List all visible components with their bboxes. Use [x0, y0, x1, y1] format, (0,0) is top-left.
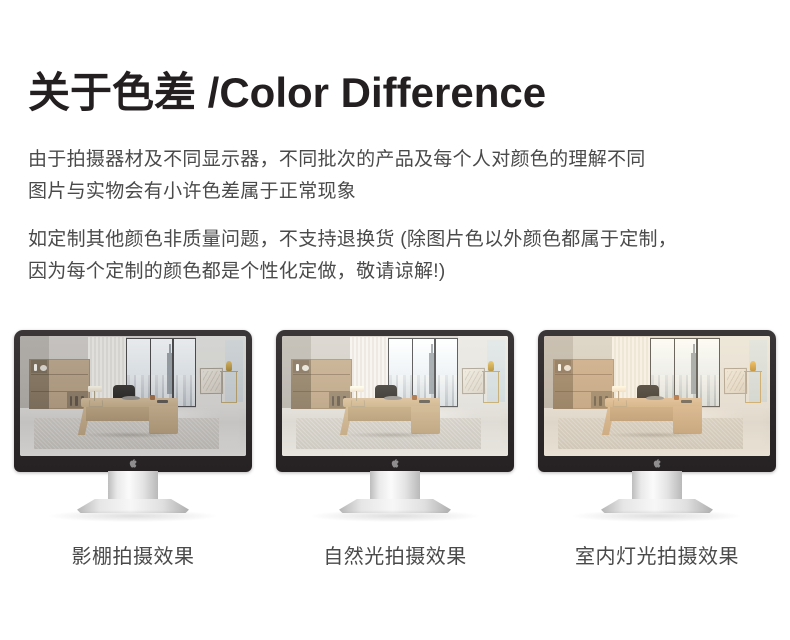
office-scene: [544, 336, 770, 456]
desk-pad: [681, 400, 692, 402]
apple-logo-icon: [653, 459, 662, 469]
floor-lamp-shade: [88, 386, 103, 391]
monitor-stand-neck: [108, 471, 158, 500]
office-scene: [282, 336, 508, 456]
desk-shadow: [607, 432, 702, 438]
monitor-bezel: [276, 330, 514, 472]
paragraph-line: 图片与实物会有小许色差属于正常现象: [28, 176, 768, 208]
caption-natural-light: 自然光拍摄效果: [276, 545, 514, 569]
paragraph-line: 由于拍摄器材及不同显示器，不同批次的产品及每个人对颜色的理解不同: [28, 144, 768, 176]
desk-return-cabinet: [673, 406, 702, 435]
apple-logo-icon: [129, 459, 138, 469]
decor-vase: [226, 361, 233, 371]
monitor-screen: [282, 336, 508, 456]
monitor-studio: [14, 330, 252, 520]
pedestal-stand: [745, 372, 761, 403]
color-variance-paragraph: 由于拍摄器材及不同显示器，不同批次的产品及每个人对颜色的理解不同 图片与实物会有…: [28, 144, 768, 208]
shelf-object: [34, 364, 37, 371]
monitor-shadow: [573, 510, 741, 522]
paragraph-line: 如定制其他颜色非质量问题，不支持退换货 (除图片色以外颜色都属于定制，: [28, 224, 773, 256]
shelf-object: [599, 396, 602, 406]
apple-logo-icon: [391, 459, 400, 469]
monitor-bezel: [14, 330, 252, 472]
page-title: 关于色差 /Color Difference: [28, 70, 546, 116]
art-canvas: [203, 372, 220, 392]
shelf-object: [558, 364, 561, 371]
shelf-object: [302, 365, 309, 371]
pedestal-stand: [221, 372, 237, 403]
office-scene: [20, 336, 246, 456]
pedestal-stand: [483, 372, 499, 403]
desk-cup: [674, 395, 679, 400]
decor-vase: [488, 361, 495, 371]
shelf-object: [296, 364, 299, 371]
desk-pad: [419, 400, 430, 402]
monitor-screen: [544, 336, 770, 456]
art-canvas: [465, 372, 482, 392]
decor-vase: [750, 361, 757, 371]
monitor-shadow: [49, 510, 217, 522]
monitor-caption-row: 影棚拍摄效果 自然光拍摄效果 室内灯光拍摄效果: [14, 545, 776, 569]
desk-pad: [157, 400, 168, 402]
caption-studio: 影棚拍摄效果: [14, 545, 252, 569]
floor-lamp-shade: [612, 386, 627, 391]
window-mullion: [434, 339, 436, 405]
window-mullion: [696, 339, 698, 405]
floor-lamp-legs: [350, 400, 365, 407]
desk-bowl: [384, 396, 402, 400]
shelf-object: [337, 396, 340, 406]
cabinet-shelf: [31, 374, 88, 375]
shelf-object: [564, 365, 571, 371]
monitor-natural-light: [276, 330, 514, 520]
monitor-indoor-light: [538, 330, 776, 520]
art-canvas: [727, 372, 744, 392]
desk-return-cabinet: [411, 406, 440, 435]
caption-indoor-light: 室内灯光拍摄效果: [538, 545, 776, 569]
floor-lamp-legs: [88, 400, 103, 407]
desk-cup: [412, 395, 417, 400]
shelf-object: [75, 396, 78, 406]
monitor-shadow: [311, 510, 479, 522]
monitor-stand-neck: [632, 471, 682, 500]
pedestal-top: [744, 371, 763, 373]
shelf-object: [40, 365, 47, 371]
cabinet-shelf: [293, 374, 350, 375]
paragraph-line: 因为每个定制的颜色都是个性化定做，敬请谅解!): [28, 256, 773, 288]
monitor-comparison-row: [14, 330, 776, 520]
desk-bowl: [122, 396, 140, 400]
desk-cup: [150, 395, 155, 400]
desk-shadow: [345, 432, 440, 438]
cabinet-shelf: [555, 374, 612, 375]
floor-lamp-legs: [612, 400, 627, 407]
pedestal-top: [482, 371, 501, 373]
monitor-stand-neck: [370, 471, 420, 500]
monitor-bezel: [538, 330, 776, 472]
monitor-screen: [20, 336, 246, 456]
desk-bowl: [646, 396, 664, 400]
desk-return-cabinet: [149, 406, 178, 435]
window-mullion: [172, 339, 174, 405]
pedestal-top: [220, 371, 239, 373]
custom-color-policy-paragraph: 如定制其他颜色非质量问题，不支持退换货 (除图片色以外颜色都属于定制， 因为每个…: [28, 224, 773, 288]
floor-lamp-shade: [350, 386, 365, 391]
desk-shadow: [83, 432, 178, 438]
